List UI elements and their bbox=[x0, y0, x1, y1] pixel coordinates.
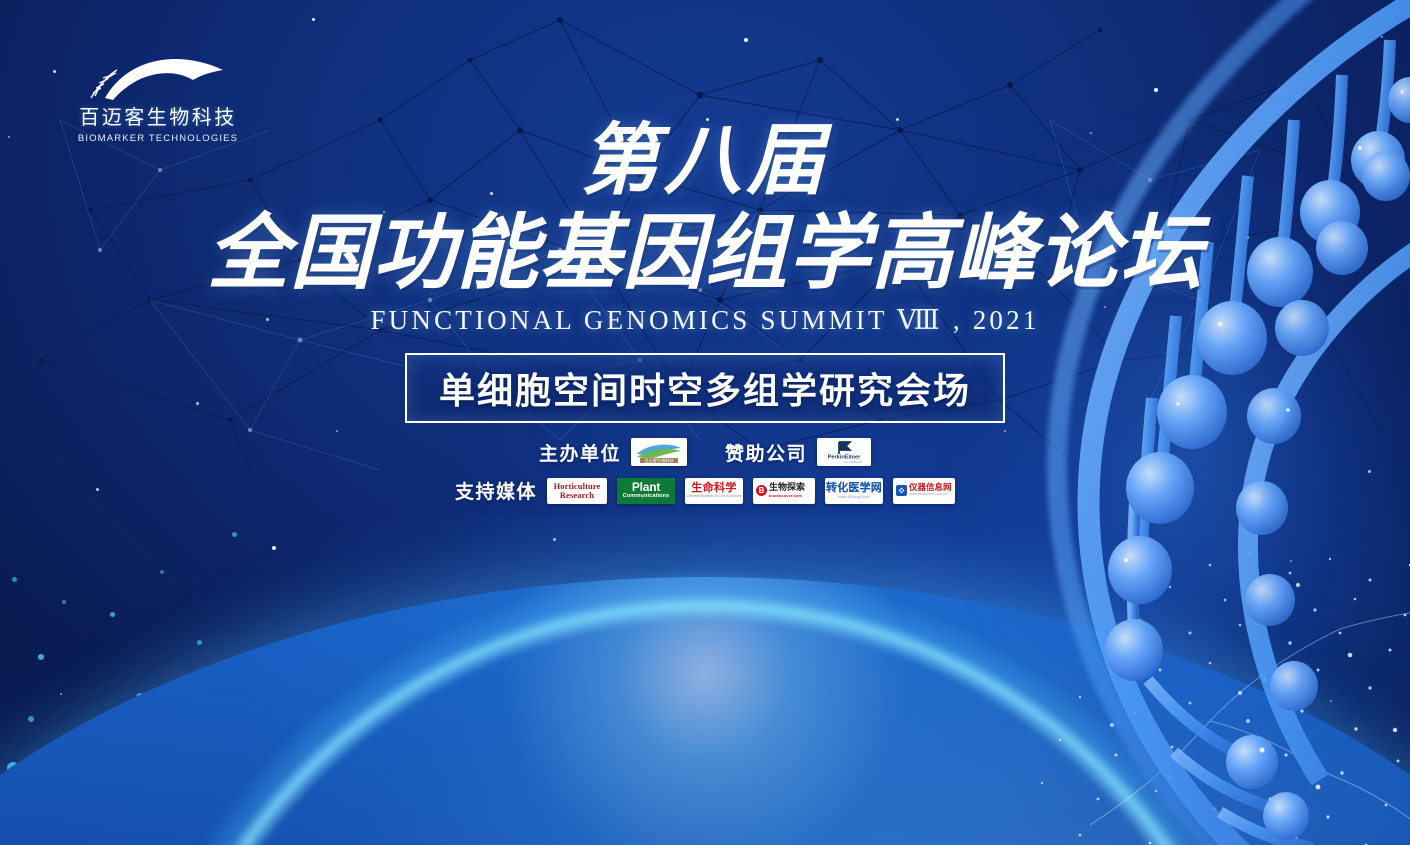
zhuanhua-yixue-sub: www.360zhyx.com bbox=[838, 495, 869, 499]
media-logo-horticulture-research: Horticulture Research bbox=[547, 478, 607, 504]
media-logo-zhuanhua-yixue: 转化医学网 www.360zhyx.com bbox=[825, 478, 883, 504]
biomarker-logo-icon: 百迈客生物科技 bbox=[631, 438, 687, 466]
event-poster: 百迈客生物科技 BIOMARKER TECHNOLOGIES 第八届 全国功能基… bbox=[0, 0, 1410, 845]
biodiscover-text: 生物探索 bbox=[769, 484, 805, 493]
shengming-kexue-text: 生命科学 bbox=[691, 482, 737, 493]
yiqi-xinxi-sub: www.instrument.com.cn bbox=[909, 493, 952, 497]
zhuanhua-yixue-text: 转化医学网 bbox=[826, 482, 882, 493]
yiqi-xinxi-text: 仪器信息网 bbox=[909, 484, 952, 493]
media-partners-row: 支持媒体 Horticulture Research Plant Communi… bbox=[455, 477, 955, 504]
shengming-kexue-sub: Chinese Bulletin of Life Sciences bbox=[686, 494, 742, 499]
biodiscover-mark-icon: B bbox=[756, 485, 767, 496]
session-title-box: 单细胞空间时空多组学研究会场 bbox=[405, 353, 1005, 423]
yiqi-xinxi-mark-icon bbox=[896, 485, 907, 496]
organizer-label: 主办单位 bbox=[539, 439, 621, 466]
svg-text:For the Better: For the Better bbox=[844, 460, 862, 464]
media-label: 支持媒体 bbox=[455, 477, 537, 504]
instrument-diamond-icon bbox=[896, 485, 907, 496]
headline-line-2: 全国功能基因组学高峰论坛 bbox=[0, 213, 1410, 295]
media-logo-shengming-kexue: 生命科学 Chinese Bulletin of Life Sciences bbox=[685, 478, 743, 504]
sponsor-logo-perkinelmer: PerkinElmer For the Better bbox=[817, 438, 871, 466]
media-logo-plant-communications: Plant Communications bbox=[617, 478, 675, 504]
organizer-logo-biomarker: 百迈客生物科技 bbox=[631, 438, 687, 466]
biomarker-arc-dna-logo-icon bbox=[83, 48, 233, 104]
headline-subtitle-en: FUNCTIONAL GENOMICS SUMMIT Ⅷ , 2021 bbox=[0, 305, 1410, 336]
horticulture-research-line2: Research bbox=[560, 491, 594, 500]
sponsor-label: 赞助公司 bbox=[725, 439, 807, 466]
svg-text:百迈客生物科技: 百迈客生物科技 bbox=[644, 457, 674, 464]
session-title-text: 单细胞空间时空多组学研究会场 bbox=[439, 362, 971, 414]
perkinelmer-logo-icon: PerkinElmer For the Better bbox=[817, 438, 871, 466]
organizer-sponsor-row: 主办单位 百迈客生物科技 赞助公司 PerkinElmer For the Be… bbox=[539, 438, 871, 466]
plant-communications-line1: Plant bbox=[632, 481, 660, 493]
biodiscover-sub: biodiscover.com bbox=[769, 494, 805, 498]
headline-line-1: 第八届 bbox=[0, 122, 1410, 200]
media-logo-yiqi-xinxi: 仪器信息网 www.instrument.com.cn bbox=[893, 478, 955, 504]
media-logo-biodiscover: B 生物探索 biodiscover.com bbox=[753, 478, 815, 504]
plant-communications-line2: Communications bbox=[623, 493, 670, 499]
